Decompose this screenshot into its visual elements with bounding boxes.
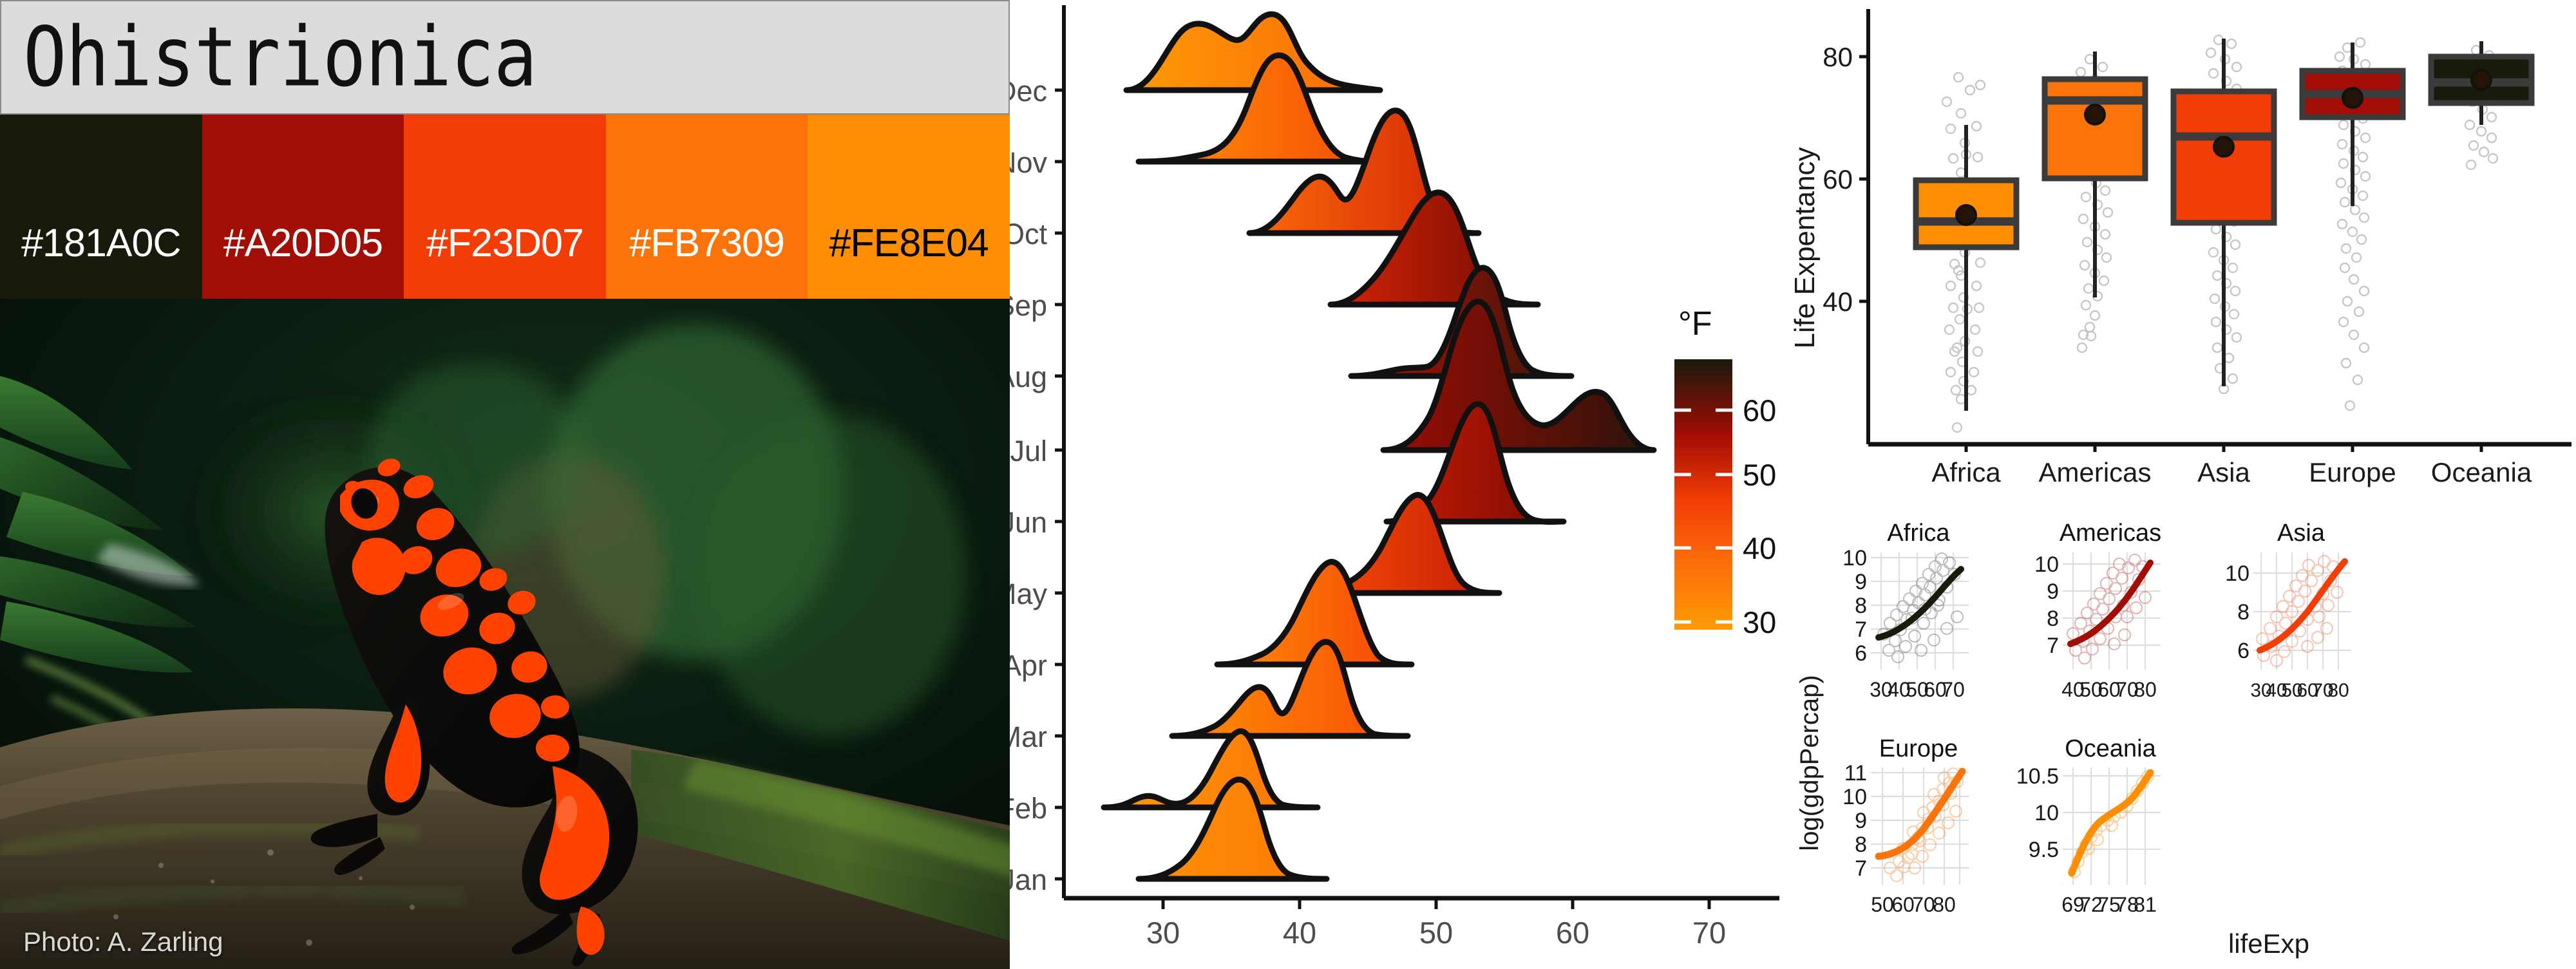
ridgeline-panel: Jan Feb Mar Apr May Jun Jul Aug Sep Oct … bbox=[1010, 0, 1792, 969]
boxplot-chart: Life Expentancy 40 60 80 bbox=[1792, 9, 2571, 487]
facet-title-africa: Africa bbox=[1887, 520, 1950, 547]
color-swatch-1[interactable]: #181A0C bbox=[0, 115, 202, 299]
color-swatch-3[interactable]: #F23D07 bbox=[404, 115, 606, 299]
gapminder-panel: Life Expentancy 40 60 80 bbox=[1792, 0, 2576, 969]
boxplot-xtick-africa: Africa bbox=[1931, 457, 2001, 487]
facet-europe-xtick-70: 70 bbox=[1912, 893, 1935, 916]
facet-africa: Africa 10 9 8 7 6 bbox=[1842, 520, 1969, 701]
ridgeline-ytick-oct: Oct bbox=[1010, 218, 1047, 250]
facet-oceania-ytick-100: 10 bbox=[2034, 801, 2059, 825]
facet-europe: Europe 11 10 9 8 7 bbox=[1842, 735, 1969, 916]
facet-americas-ytick-8: 8 bbox=[2047, 607, 2059, 631]
boxplot-xtick-europe: Europe bbox=[2309, 457, 2396, 487]
ridgeline-ytick-sep: Sep bbox=[1010, 289, 1047, 322]
facet-africa-ytick-7: 7 bbox=[1855, 617, 1867, 642]
ridgeline-ytick-may: May bbox=[1010, 578, 1047, 610]
ridgeline-ytick-jun: Jun bbox=[1010, 506, 1047, 539]
box-americas bbox=[2045, 52, 2145, 297]
facet-grid-chart: log(gdpPercap) lifeExp Africa bbox=[1795, 520, 2351, 959]
legend-tick-30: 30 bbox=[1743, 605, 1776, 639]
boxplot-ytick-80: 80 bbox=[1823, 42, 1853, 72]
ridgeline-ytick-jul: Jul bbox=[1010, 435, 1047, 467]
box-europe bbox=[2302, 42, 2403, 206]
color-swatch-label: #FB7309 bbox=[629, 220, 784, 265]
boxplot-ytick-60: 60 bbox=[1823, 164, 1853, 194]
boxplot-xtick-americas: Americas bbox=[2038, 457, 2151, 487]
boxplot-y-axis-label: Life Expentancy bbox=[1792, 147, 1821, 348]
ridge-dec bbox=[1126, 14, 1380, 90]
facet-title-americas: Americas bbox=[2060, 520, 2161, 547]
frog-photo: Photo: A. Zarling bbox=[0, 299, 1010, 969]
boxplot-ytick-40: 40 bbox=[1823, 287, 1853, 317]
frog-photo-illustration bbox=[0, 299, 1010, 969]
photo-credit: Photo: A. Zarling bbox=[23, 927, 223, 957]
color-swatch-label: #A20D05 bbox=[223, 220, 383, 265]
facet-europe-ytick-7: 7 bbox=[1855, 856, 1867, 881]
facet-africa-ytick-8: 8 bbox=[1855, 594, 1867, 618]
facet-africa-ytick-9: 9 bbox=[1855, 570, 1867, 594]
color-swatch-label: #F23D07 bbox=[426, 220, 583, 265]
facet-asia: Asia 10 8 6 bbox=[2225, 520, 2351, 701]
ridge-jan bbox=[1139, 780, 1327, 879]
color-swatch-4[interactable]: #FB7309 bbox=[606, 115, 808, 299]
boxplot-xtick-asia: Asia bbox=[2197, 457, 2250, 487]
ridgeline-y-ticks: Jan Feb Mar Apr May Jun Jul Aug Sep Oct … bbox=[1010, 75, 1064, 896]
color-swatch-label: #FE8E04 bbox=[829, 220, 989, 265]
color-swatch-label: #181A0C bbox=[21, 220, 180, 265]
ridgeline-xtick-30: 30 bbox=[1146, 916, 1180, 950]
ridge-feb bbox=[1104, 731, 1318, 807]
ridgeline-ytick-mar: Mar bbox=[1010, 720, 1047, 753]
facet-africa-ytick-6: 6 bbox=[1855, 641, 1867, 666]
facet-africa-xtick-70: 70 bbox=[1942, 678, 1965, 701]
facet-europe-ytick-9: 9 bbox=[1855, 809, 1867, 833]
facet-americas: Americas 10 9 8 7 bbox=[2034, 520, 2161, 701]
facet-oceania: Oceania 10.5 10 9.5 bbox=[2016, 735, 2161, 916]
legend-colorbar bbox=[1674, 359, 1732, 630]
ridgeline-xtick-40: 40 bbox=[1283, 916, 1316, 950]
palette-card-panel: Ohistrionica #181A0C #A20D05 #F23D07 #FB… bbox=[0, 0, 1010, 969]
ridgeline-xtick-60: 60 bbox=[1556, 916, 1589, 950]
palette-title: Ohistrionica bbox=[1, 16, 536, 99]
facet-asia-ytick-8: 8 bbox=[2237, 600, 2249, 625]
ridgeline-ytick-dec: Dec bbox=[1010, 75, 1047, 108]
ridgeline-ytick-aug: Aug bbox=[1010, 361, 1047, 393]
palette-swatch-band: #181A0C #A20D05 #F23D07 #FB7309 #FE8E04 bbox=[0, 115, 1010, 299]
facet-europe-xtick-50: 50 bbox=[1871, 893, 1894, 916]
facet-title-asia: Asia bbox=[2277, 520, 2325, 547]
gapminder-figure: Life Expentancy 40 60 80 bbox=[1792, 0, 2576, 969]
facet-europe-ytick-10: 10 bbox=[1842, 785, 1867, 809]
facet-asia-xtick-80: 80 bbox=[2327, 680, 2349, 701]
facet-europe-xtick-80: 80 bbox=[1933, 893, 1956, 916]
jitter-africa bbox=[1942, 73, 1985, 432]
facet-europe-xtick-60: 60 bbox=[1891, 893, 1915, 916]
legend-title: °F bbox=[1678, 305, 1712, 343]
legend-tick-50: 50 bbox=[1743, 458, 1776, 492]
facet-asia-ytick-10: 10 bbox=[2225, 561, 2249, 586]
box-oceania bbox=[2431, 41, 2532, 125]
ridgeline-chart: Jan Feb Mar Apr May Jun Jul Aug Sep Oct … bbox=[1010, 0, 1792, 969]
color-swatch-2[interactable]: #A20D05 bbox=[202, 115, 404, 299]
box-africa bbox=[1916, 125, 2016, 411]
facet-americas-ytick-9: 9 bbox=[2047, 579, 2059, 604]
dashboard-page: Ohistrionica #181A0C #A20D05 #F23D07 #FB… bbox=[0, 0, 2576, 969]
ridgeline-x-ticks: 30 40 50 60 70 bbox=[1146, 898, 1726, 950]
facet-asia-ytick-6: 6 bbox=[2237, 639, 2249, 663]
facet-oceania-xtick-81: 81 bbox=[2134, 893, 2157, 916]
facet-y-axis-label: log(gdpPercap) bbox=[1795, 675, 1824, 851]
ridgeline-xtick-70: 70 bbox=[1692, 916, 1726, 950]
color-swatch-5[interactable]: #FE8E04 bbox=[808, 115, 1010, 299]
ridgeline-ytick-feb: Feb bbox=[1010, 792, 1047, 825]
facet-x-axis-label: lifeExp bbox=[2228, 928, 2309, 959]
facet-americas-xtick-80: 80 bbox=[2134, 678, 2157, 701]
facet-americas-ytick-10: 10 bbox=[2034, 552, 2059, 577]
facet-oceania-ytick-95: 9.5 bbox=[2029, 838, 2059, 862]
legend-tick-60: 60 bbox=[1743, 393, 1776, 428]
ridgeline-xtick-50: 50 bbox=[1419, 916, 1453, 950]
palette-title-band: Ohistrionica bbox=[0, 0, 1010, 115]
facet-oceania-ytick-105: 10.5 bbox=[2016, 764, 2059, 789]
legend-tick-40: 40 bbox=[1743, 531, 1776, 565]
ridgeline-ytick-jan: Jan bbox=[1010, 863, 1047, 896]
facet-africa-ytick-10: 10 bbox=[1842, 546, 1867, 570]
box-asia bbox=[2173, 39, 2274, 386]
ridgeline-ytick-nov: Nov bbox=[1010, 146, 1047, 179]
facet-title-oceania: Oceania bbox=[2065, 735, 2156, 762]
facet-americas-ytick-7: 7 bbox=[2047, 634, 2059, 658]
boxplot-xtick-oceania: Oceania bbox=[2431, 457, 2532, 487]
ridgeline-legend: °F 60 50 40 30 bbox=[1674, 305, 1776, 639]
facet-title-europe: Europe bbox=[1879, 735, 1958, 762]
facet-europe-ytick-8: 8 bbox=[1855, 833, 1867, 857]
ridgeline-ytick-apr: Apr bbox=[1010, 649, 1047, 682]
facet-europe-ytick-11: 11 bbox=[1844, 761, 1867, 786]
